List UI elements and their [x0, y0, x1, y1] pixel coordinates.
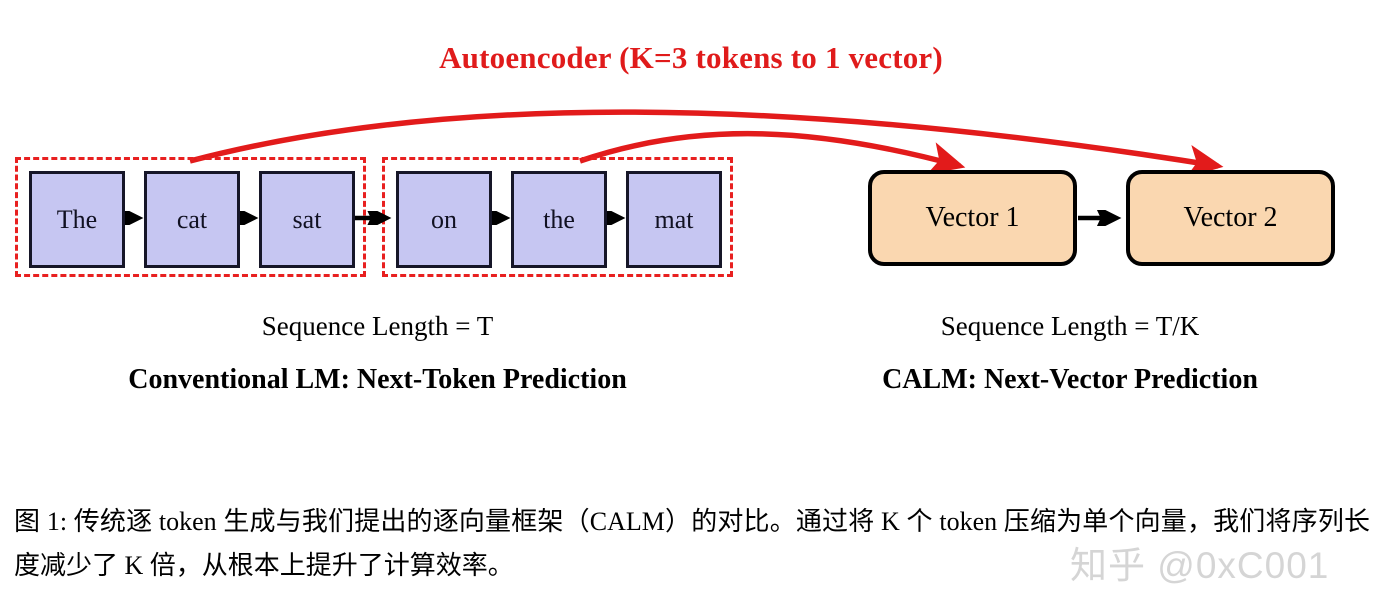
token-box: the	[511, 171, 607, 268]
watermark: 知乎 @0xC001	[1070, 535, 1329, 589]
token-box: mat	[626, 171, 722, 268]
sequence-length-label-right: Sequence Length = T/K	[760, 311, 1380, 342]
vector-box: Vector 2	[1126, 170, 1335, 266]
sequence-length-label-left: Sequence Length = T	[0, 311, 755, 342]
token-box: cat	[144, 171, 240, 268]
token-group-1: The cat sat	[15, 157, 366, 277]
figure-diagram: Autoencoder (K=3 tokens to 1 vector) The…	[0, 0, 1382, 470]
vector-flow-arrow	[1078, 210, 1126, 226]
token-flow-arrow	[355, 211, 395, 225]
mode-label-right: CALM: Next-Vector Prediction	[760, 364, 1380, 396]
token-flow-arrow	[607, 211, 629, 225]
token-box: on	[396, 171, 492, 268]
autoencoder-title: Autoencoder (K=3 tokens to 1 vector)	[0, 40, 1382, 76]
token-flow-arrow	[125, 211, 147, 225]
token-group-2: on the mat	[382, 157, 733, 277]
token-flow-arrow	[240, 211, 262, 225]
vector-box: Vector 1	[868, 170, 1077, 266]
token-flow-arrow	[492, 211, 514, 225]
mode-label-left: Conventional LM: Next-Token Prediction	[0, 364, 755, 396]
token-box: The	[29, 171, 125, 268]
token-box: sat	[259, 171, 355, 268]
